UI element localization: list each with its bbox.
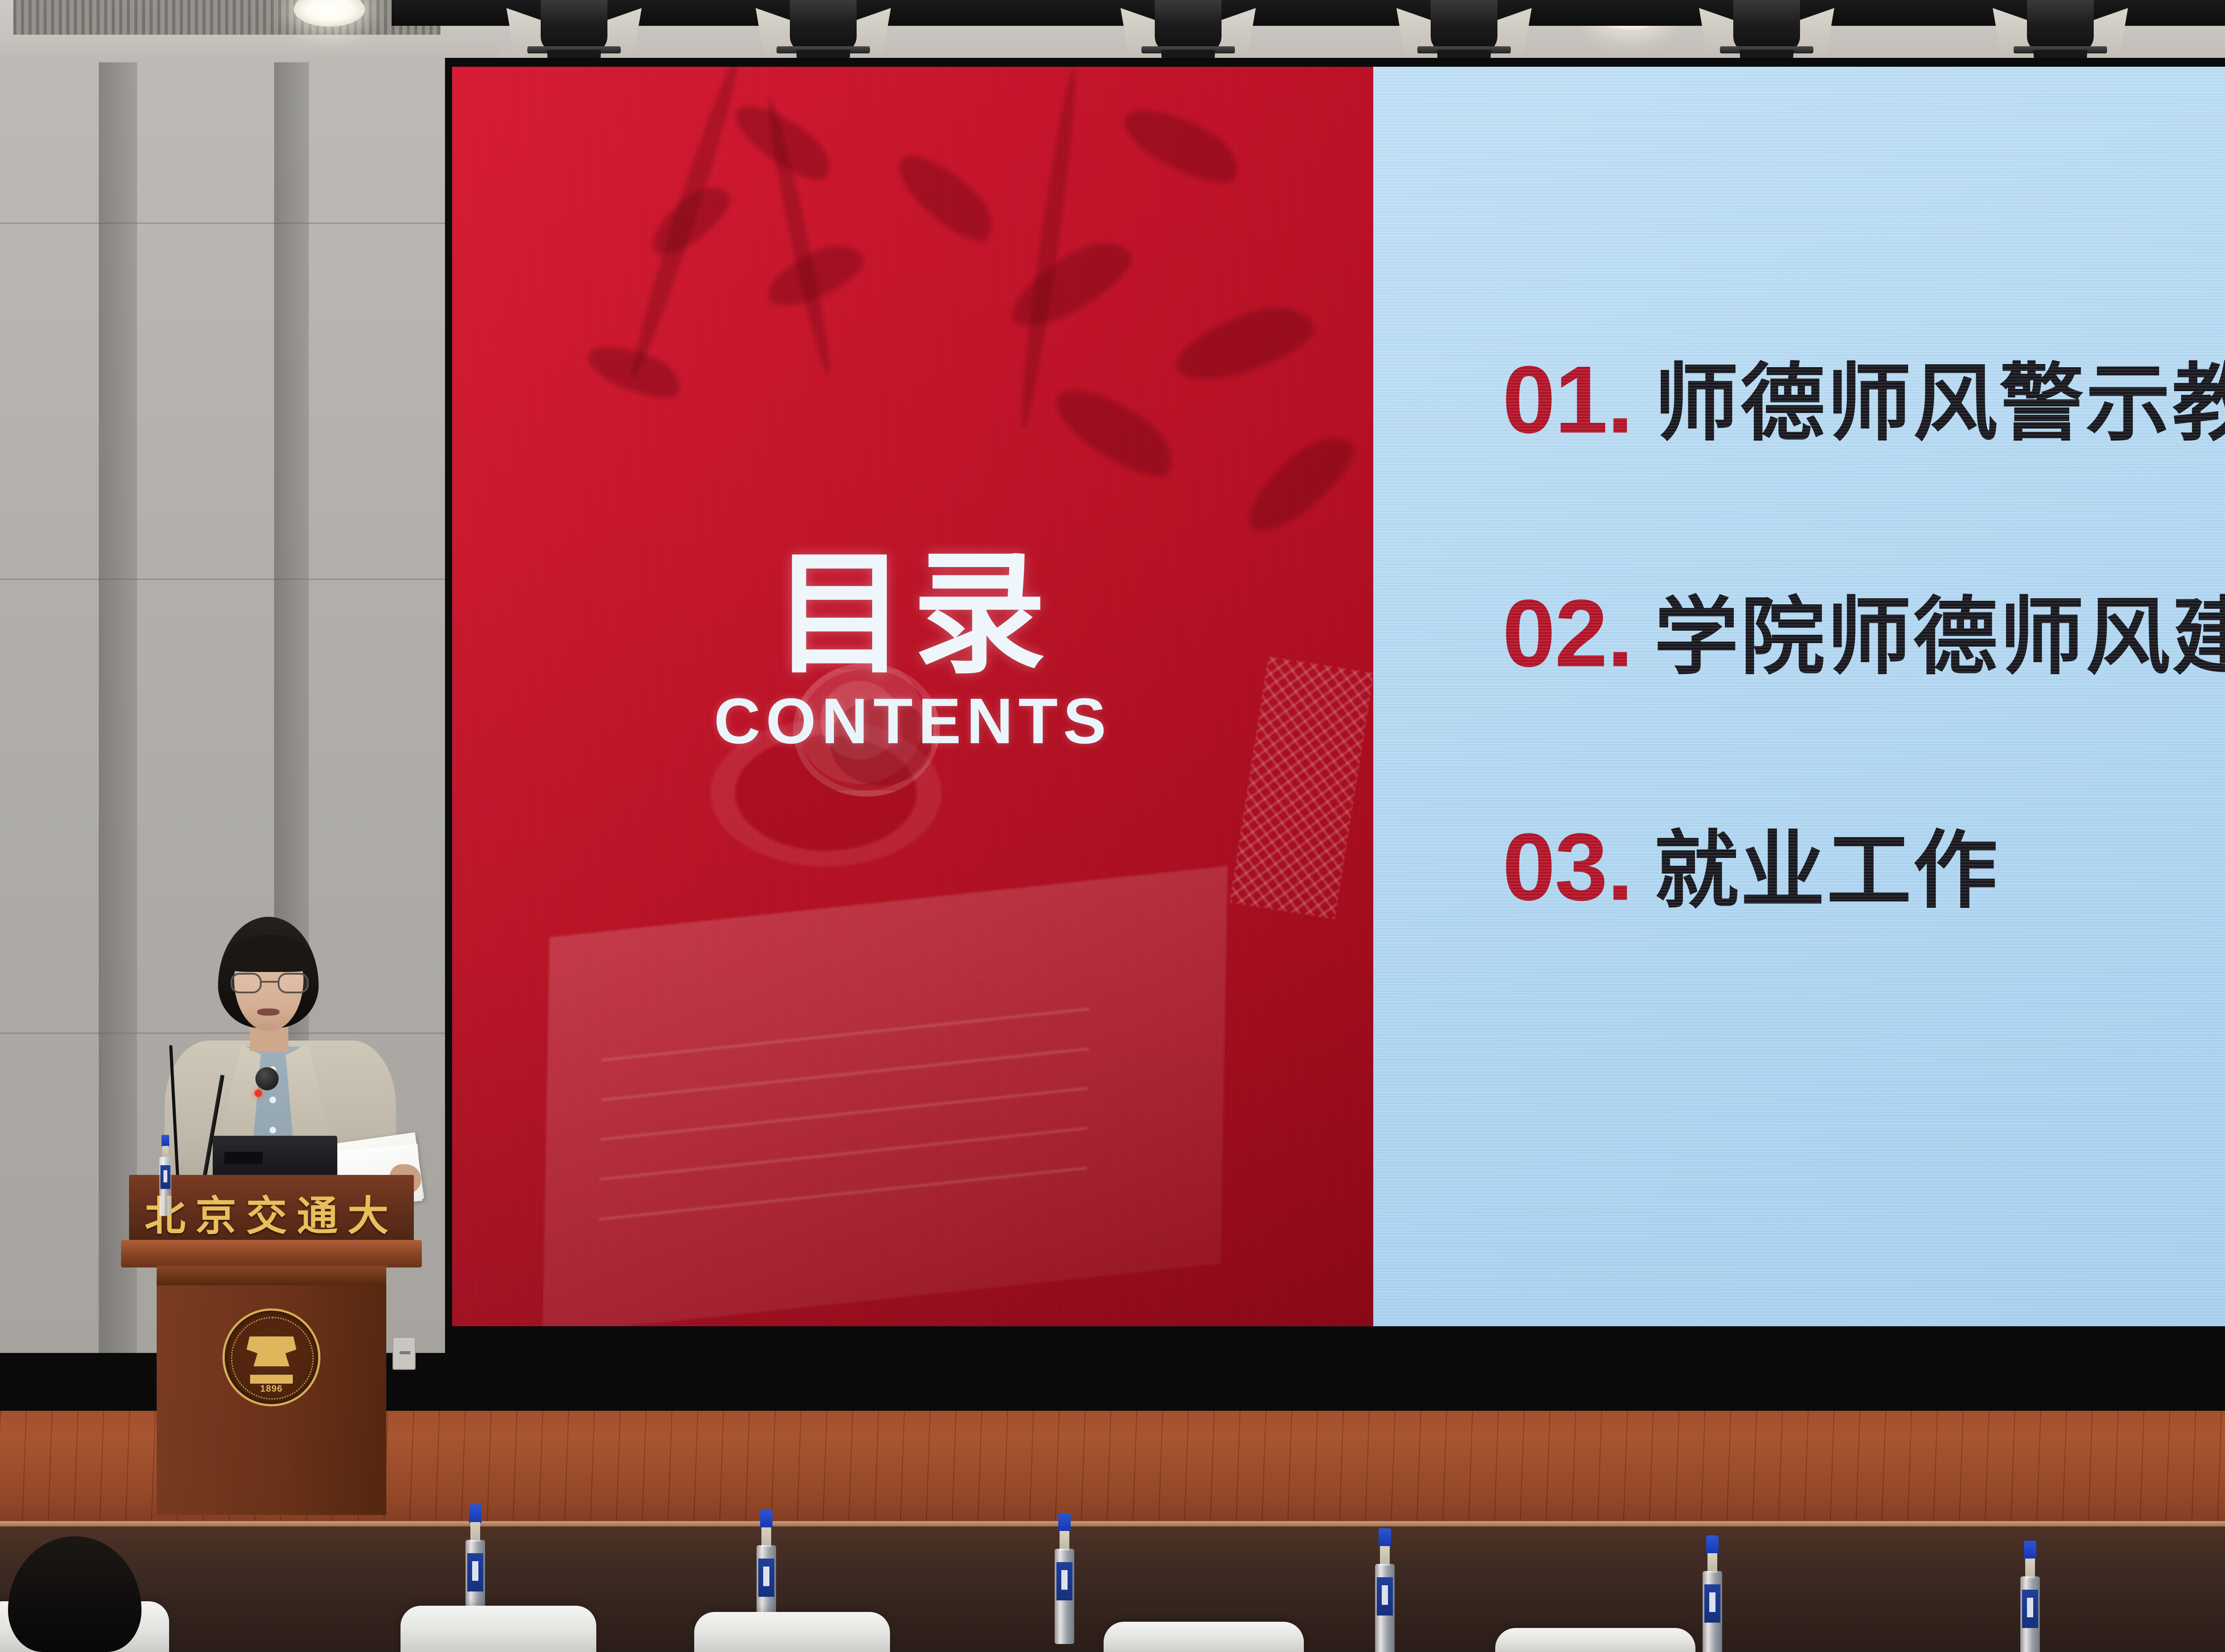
toc-item: 02. 学院师德师风建设工作 (1502, 585, 2225, 681)
shirt-button (270, 1097, 276, 1103)
presentation-screen: 目录 CONTENTS 01. 师德师风警示教育 02. 学院师德师风建设工作 … (452, 67, 2225, 1326)
bottle-neck (761, 1527, 771, 1547)
contents-title-cn: 目录 (452, 547, 1373, 681)
bottle-neck (1707, 1553, 1717, 1573)
toc-item-label: 师德师风警示教育 (1654, 361, 2225, 446)
contents-title-en: CONTENTS (452, 681, 1373, 761)
bottle-neck (162, 1146, 169, 1158)
microphone-head (255, 1067, 279, 1090)
stage-light-housing (1155, 0, 1222, 53)
lectern-bevel (157, 1266, 386, 1285)
glasses-lens-right (278, 973, 309, 993)
bottle-label (2022, 1590, 2038, 1628)
toc-item-number: 02. (1502, 585, 1633, 681)
ghost-open-book (542, 866, 1227, 1326)
bottle-cap (760, 1510, 773, 1528)
slide-right-panel: 01. 师德师风警示教育 02. 学院师德师风建设工作 03. 就业工作 (1373, 67, 2225, 1326)
bottle-cap (162, 1135, 169, 1146)
audience-chair (400, 1606, 596, 1652)
lectern-nameplate-panel: 北京交通大學 (129, 1175, 414, 1242)
wall-pilaster (99, 62, 137, 1353)
bottle-cap (2024, 1541, 2036, 1559)
bottle-cap (1379, 1528, 1391, 1547)
contents-heading-group: 目录 CONTENTS (452, 547, 1373, 761)
bottle-neck (1060, 1531, 1069, 1551)
ghost-book-textline (599, 1127, 1088, 1181)
toc-item-number: 01. (1502, 352, 1633, 447)
stage-light-housing (2027, 0, 2094, 53)
bottle-label (1377, 1577, 1393, 1616)
bottle-label (160, 1165, 170, 1189)
slide-left-panel: 目录 CONTENTS (452, 67, 1373, 1326)
ghost-book-textline (602, 1008, 1090, 1061)
bottle-label (1704, 1584, 1720, 1623)
audience-chair (1495, 1628, 1695, 1652)
glasses-bridge (262, 981, 278, 983)
microphone-status-led (255, 1089, 262, 1097)
emblem-base-glyph (250, 1375, 293, 1384)
speaker-mouth (257, 1008, 279, 1016)
bottle-neck (1380, 1546, 1390, 1566)
toc-item-label: 学院师德师风建设工作 (1654, 595, 2225, 680)
audience-chair (1104, 1622, 1304, 1652)
toc-item: 03. 就业工作 (1502, 819, 2225, 915)
laptop-screen-badge (224, 1152, 263, 1164)
table-of-contents: 01. 师德师风警示教育 02. 学院师德师风建设工作 03. 就业工作 (1502, 352, 2225, 1053)
emblem-founding-year: 1896 (225, 1384, 318, 1394)
bottle-label (758, 1559, 774, 1597)
wall-seam (0, 579, 472, 580)
auditorium-scene: 目录 CONTENTS 01. 师德师风警示教育 02. 学院师德师风建设工作 … (0, 0, 2225, 1652)
wall-seam (0, 223, 472, 224)
stage-light-housing (1431, 0, 1497, 53)
stage-light-housing (541, 0, 607, 53)
audience-chair (694, 1612, 890, 1652)
toc-item-number: 03. (1502, 819, 1633, 915)
bottle-neck (2025, 1559, 2035, 1578)
bottle-label (467, 1553, 483, 1591)
ghost-book-textline (599, 1166, 1087, 1220)
shirt-button (270, 1127, 276, 1134)
bottle-cap (1058, 1513, 1071, 1532)
bottle-label (1056, 1562, 1072, 1600)
ghost-book-textline (601, 1047, 1089, 1101)
lectern: 北京交通大學 1896 (129, 1175, 414, 1513)
lectern-ledge (121, 1240, 422, 1267)
bottle-cap (1706, 1535, 1719, 1554)
stage-light-housing (1733, 0, 1800, 53)
ceiling-vent-grille (13, 0, 441, 35)
university-emblem-icon: 1896 (222, 1308, 320, 1406)
toc-item: 01. 师德师风警示教育 (1502, 352, 2225, 447)
ghost-book-textline (600, 1087, 1088, 1141)
speaker-glasses (231, 973, 309, 993)
bottle-cap (469, 1504, 481, 1523)
toc-item-label: 就业工作 (1654, 829, 1999, 913)
bottle-neck (470, 1522, 480, 1542)
lighting-truss (392, 0, 2225, 26)
glasses-lens-left (231, 973, 262, 993)
stage-light-housing (790, 0, 857, 53)
